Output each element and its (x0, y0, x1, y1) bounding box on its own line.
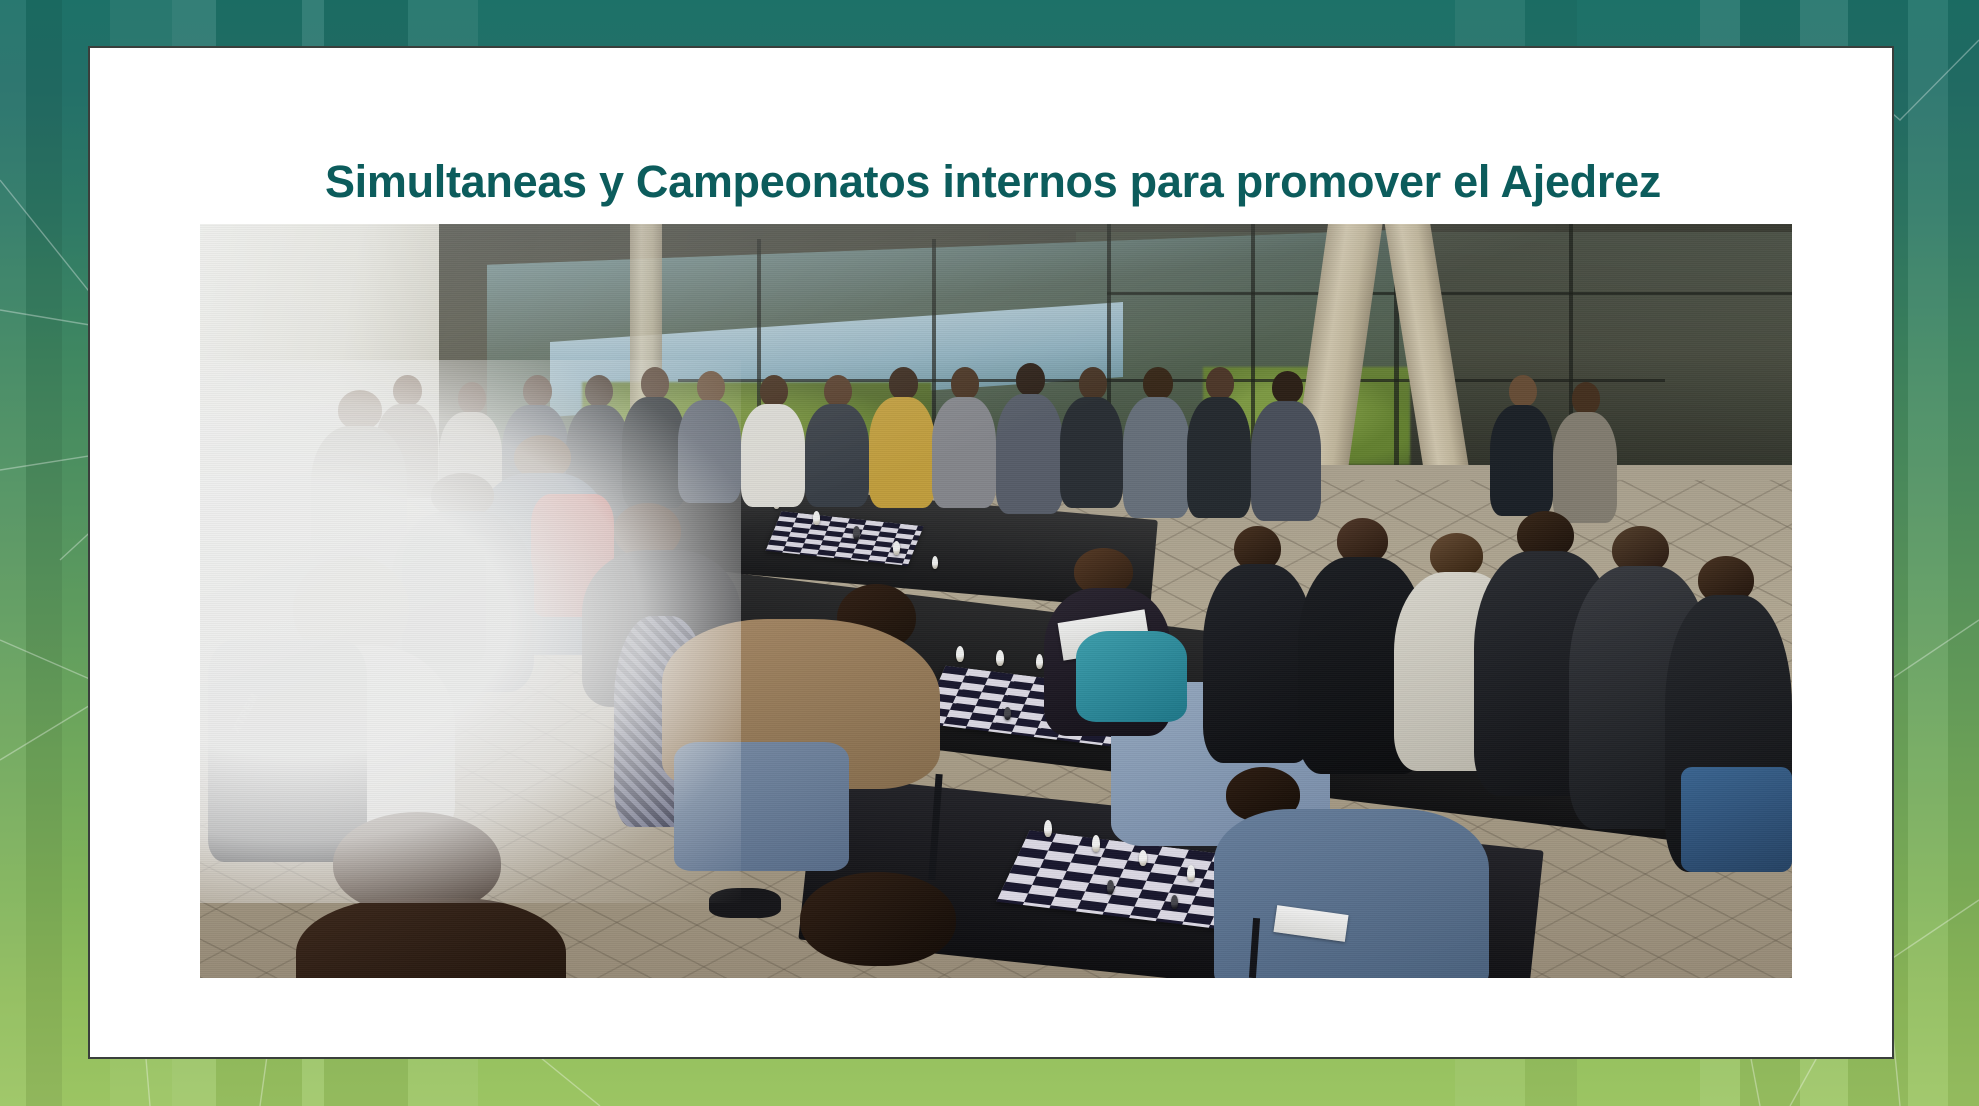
chess-piece-black (1171, 895, 1178, 909)
chess-piece-white (1044, 820, 1052, 837)
chess-piece-white (813, 511, 820, 525)
chess-piece-white (996, 650, 1004, 666)
spectator (1251, 371, 1321, 514)
spectator (1060, 367, 1124, 503)
spectator-teal-jacket (1076, 631, 1187, 721)
slide-canvas: Simultaneas y Campeonatos internos para … (0, 0, 1979, 1106)
spectator (741, 375, 805, 503)
spectator (1490, 375, 1554, 511)
spectator (869, 367, 936, 503)
spectator (805, 375, 869, 503)
chess-piece-black (853, 526, 860, 540)
spectator (996, 363, 1063, 506)
overexposure-highlight (200, 360, 741, 903)
chess-piece-white (893, 541, 900, 555)
player-seated-blue (1203, 767, 1490, 978)
chess-piece-white (1187, 865, 1195, 881)
spectator (1553, 382, 1617, 518)
window-transom (1107, 292, 1792, 295)
spectator (932, 367, 996, 503)
page-title: Simultaneas y Campeonatos internos para … (116, 156, 1870, 208)
chess-piece-white (1092, 835, 1100, 852)
content-panel: Simultaneas y Campeonatos internos para … (88, 46, 1894, 1059)
spectator (1123, 367, 1190, 510)
spectator-shorts (1681, 767, 1792, 873)
chess-piece-white (1139, 850, 1147, 866)
spectator-foreground (773, 872, 996, 978)
spectator (1187, 367, 1251, 510)
chess-piece-black (1004, 707, 1011, 720)
chess-piece-white (1036, 654, 1043, 669)
chess-piece-white (932, 556, 938, 569)
chess-event-photo: XTREM (200, 224, 1792, 978)
